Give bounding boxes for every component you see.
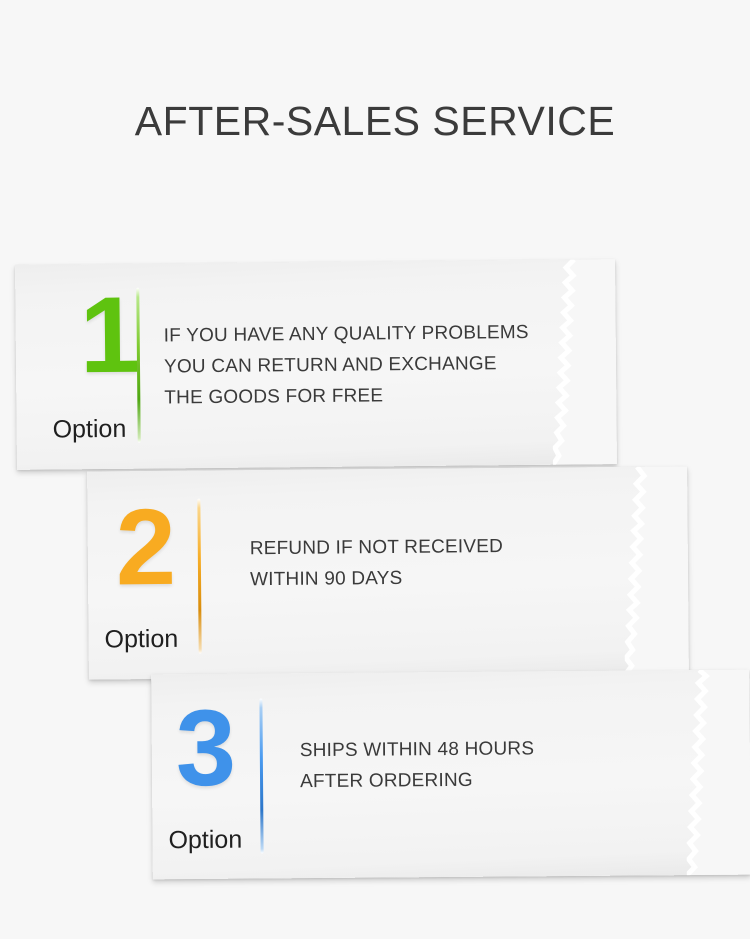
option-divider-3 xyxy=(259,698,263,853)
option-description-1: IF YOU HAVE ANY QUALITY PROBLEMS YOU CAN… xyxy=(164,316,585,413)
page-title: AFTER-SALES SERVICE xyxy=(0,98,750,145)
option-description-3: SHIPS WITHIN 48 HOURS AFTER ORDERING xyxy=(300,732,720,797)
option-divider-1 xyxy=(136,288,140,443)
option-description-2: REFUND IF NOT RECEIVED WITHIN 90 DAYS xyxy=(250,530,671,596)
option-number-3: 3 xyxy=(175,694,234,802)
after-sales-service-page: AFTER-SALES SERVICE 1 Option IF YOU HAVE… xyxy=(0,0,750,939)
option-number-2: 2 xyxy=(115,493,174,602)
option-label-3: Option xyxy=(168,826,242,856)
option-label-2: Option xyxy=(104,625,178,655)
option-label-1: Option xyxy=(52,415,126,445)
option-divider-2 xyxy=(197,499,201,654)
option-card-1: 1 Option IF YOU HAVE ANY QUALITY PROBLEM… xyxy=(15,259,617,470)
option-number-1: 1 xyxy=(79,281,138,390)
option-card-2: 2 Option REFUND IF NOT RECEIVED WITHIN 9… xyxy=(87,466,689,679)
option-card-3: 3 Option SHIPS WITHIN 48 HOURS AFTER ORD… xyxy=(151,670,750,880)
